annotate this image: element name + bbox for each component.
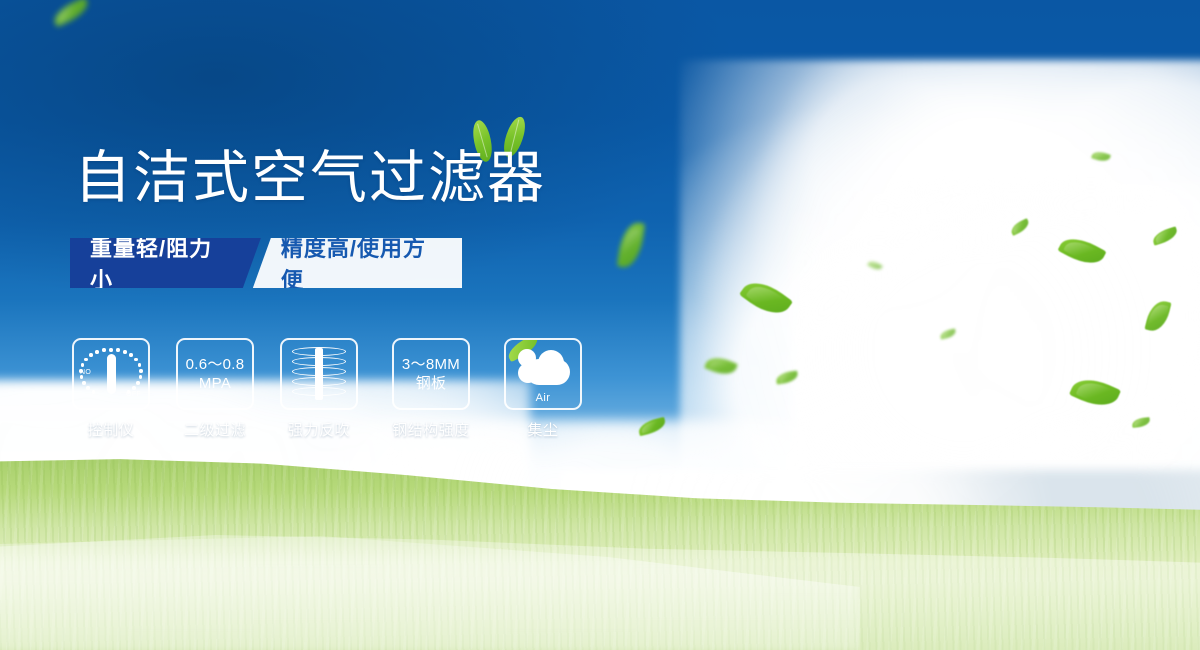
feature-item-steel-strength[interactable]: 3～8MM 钢板 钢结构强度 <box>382 338 480 440</box>
feature-icon-box: 3～8MM 钢板 <box>392 338 470 410</box>
steel-value-line1: 3～8MM <box>402 355 460 374</box>
gauge-on-label: NO <box>80 369 91 376</box>
pressure-value-line1: 0.6～0.8 <box>186 355 245 374</box>
feature-item-strong-blowback[interactable]: 强力反吹 <box>278 338 360 440</box>
feature-icon-box: Air <box>504 338 582 410</box>
subtitle-bar: 重量轻/阻力小 精度高/使用方便 <box>70 238 462 288</box>
gauge-off-label: OFF <box>126 391 141 398</box>
feature-item-dust-collection[interactable]: Air 集尘 <box>502 338 584 440</box>
gauge-needle <box>107 354 116 394</box>
feature-label: 控制仪 <box>88 419 135 440</box>
feature-icon-box: NO OFF <box>72 338 150 410</box>
product-hero-banner: 自洁式空气过滤器 重量轻/阻力小 精度高/使用方便 <box>0 0 1200 650</box>
feature-label: 集尘 <box>527 419 558 440</box>
filter-stack-icon <box>292 346 346 402</box>
subtitle-segment-primary: 重量轻/阻力小 <box>70 238 261 288</box>
gauge-icon: NO OFF <box>80 345 142 403</box>
cloud-right-lower <box>790 180 1200 520</box>
feature-list: NO OFF 控制仪 0.6～0.8 MPA 二级过滤 <box>70 338 584 440</box>
cloud-air-icon: Air <box>512 347 574 401</box>
steel-value-line2: 钢板 <box>416 374 447 393</box>
feature-item-controller[interactable]: NO OFF 控制仪 <box>70 338 152 440</box>
feature-icon-box <box>280 338 358 410</box>
feature-label: 钢结构强度 <box>392 419 470 440</box>
feature-label: 强力反吹 <box>288 419 350 440</box>
pressure-value-line2: MPA <box>199 374 231 393</box>
feature-label: 二级过滤 <box>184 419 246 440</box>
feature-icon-box: 0.6～0.8 MPA <box>176 338 254 410</box>
air-label: Air <box>512 392 574 404</box>
cloud-body <box>526 359 570 385</box>
feature-item-two-stage-filter[interactable]: 0.6～0.8 MPA 二级过滤 <box>174 338 256 440</box>
page-title: 自洁式空气过滤器 <box>74 146 546 210</box>
subtitle-segment-secondary: 精度高/使用方便 <box>253 238 462 288</box>
